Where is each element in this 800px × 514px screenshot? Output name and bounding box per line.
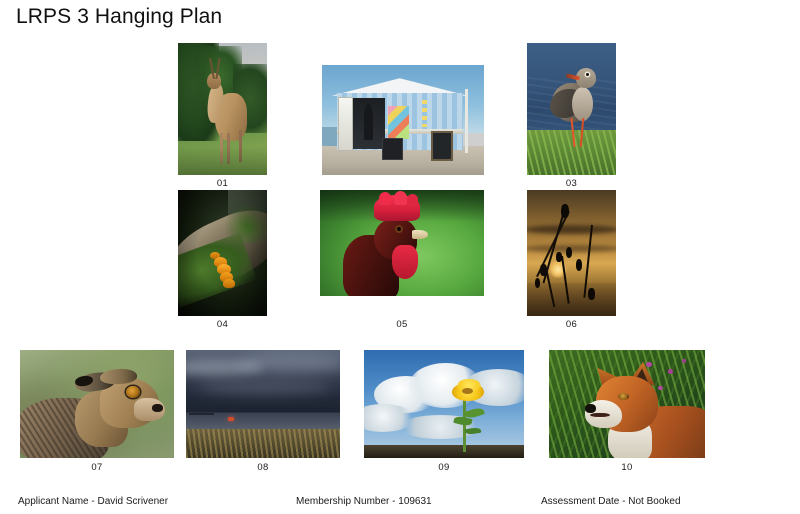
plate-04[interactable]: 04 bbox=[178, 190, 267, 316]
plate-02[interactable]: 02 bbox=[322, 65, 484, 175]
footer-membership-number: Membership Number - 109631 bbox=[296, 496, 432, 508]
plate-caption: 08 bbox=[257, 462, 268, 473]
photo-04[interactable] bbox=[178, 190, 267, 316]
plate-caption: 05 bbox=[396, 319, 407, 330]
plate-caption: 10 bbox=[621, 462, 632, 473]
photo-03[interactable] bbox=[527, 43, 616, 175]
plate-caption: 04 bbox=[217, 319, 228, 330]
photo-08[interactable] bbox=[186, 350, 340, 458]
footer-assessment-date: Assessment Date - Not Booked bbox=[541, 496, 681, 508]
plate-05[interactable]: 05 bbox=[320, 190, 484, 296]
plate-08[interactable]: 08 bbox=[186, 350, 340, 458]
plate-01[interactable]: 01 bbox=[178, 43, 267, 175]
plate-caption: 01 bbox=[217, 178, 228, 189]
photo-06[interactable] bbox=[527, 190, 616, 316]
plate-07[interactable]: 07 bbox=[20, 350, 174, 458]
plate-10[interactable]: 10 bbox=[549, 350, 705, 458]
plate-03[interactable]: 03 bbox=[527, 43, 616, 175]
photo-10[interactable] bbox=[549, 350, 705, 458]
footer-applicant-name: Applicant Name - David Scrivener bbox=[18, 496, 168, 508]
photo-09[interactable] bbox=[364, 350, 524, 458]
photo-01[interactable] bbox=[178, 43, 267, 175]
plate-caption: 03 bbox=[566, 178, 577, 189]
photo-05[interactable] bbox=[320, 190, 484, 296]
page-title: LRPS 3 Hanging Plan bbox=[16, 5, 222, 29]
plate-caption: 09 bbox=[438, 462, 449, 473]
plate-06[interactable]: 06 bbox=[527, 190, 616, 316]
photo-02[interactable] bbox=[322, 65, 484, 175]
plate-caption: 06 bbox=[566, 319, 577, 330]
plate-caption: 07 bbox=[91, 462, 102, 473]
plate-09[interactable]: 09 bbox=[364, 350, 524, 458]
photo-07[interactable] bbox=[20, 350, 174, 458]
hanging-plan-page: LRPS 3 Hanging Plan 01 02 bbox=[0, 0, 800, 514]
